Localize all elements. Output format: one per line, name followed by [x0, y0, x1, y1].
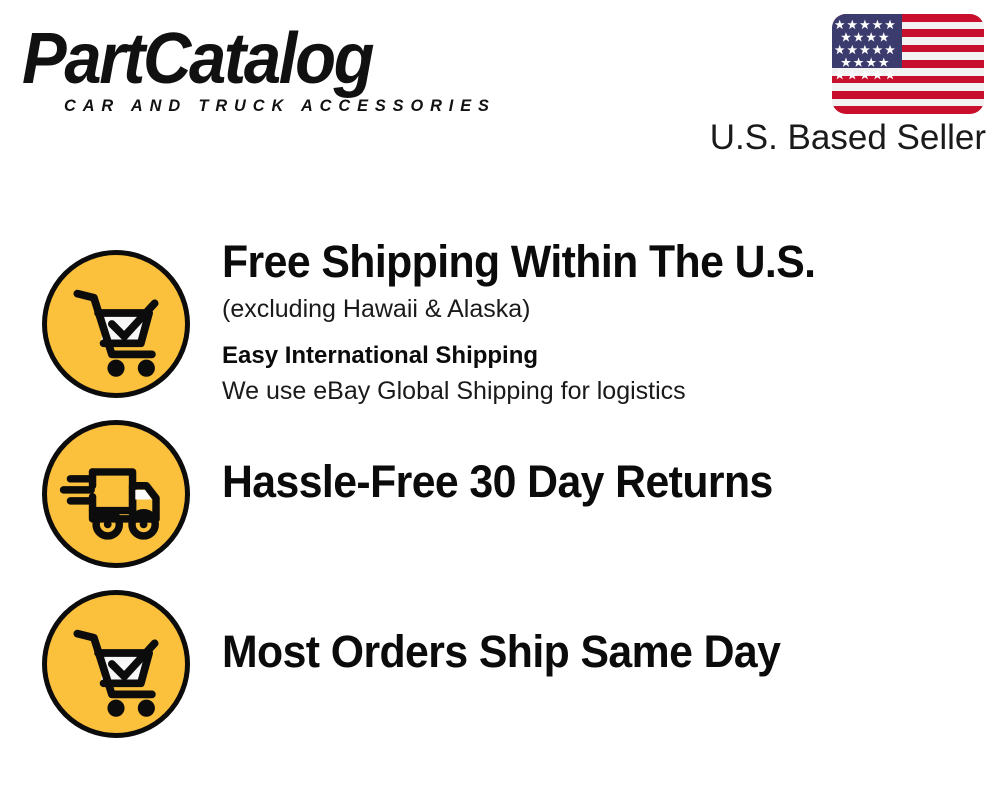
flag-canton: [832, 14, 902, 68]
feature-text-block: Hassle-Free 30 Day Returns: [222, 456, 962, 508]
flag-stars: [832, 14, 902, 84]
promo-banner: PartCatalog CAR AND TRUCK ACCESSORIES: [0, 0, 1000, 800]
feature-item: Most Orders Ship Same Day: [0, 580, 1000, 750]
cart-check-icon: [42, 250, 190, 398]
feature-item: Free Shipping Within The U.S. (excluding…: [0, 240, 1000, 410]
feature-headline: Free Shipping Within The U.S.: [222, 236, 925, 288]
flag-stripe: [832, 99, 984, 107]
us-based-seller-label: U.S. Based Seller: [710, 118, 986, 158]
feature-subheading: Easy International Shipping: [222, 340, 962, 372]
flag-stripe: [832, 91, 984, 99]
flag-stripe: [832, 106, 984, 114]
feature-headline: Hassle-Free 30 Day Returns: [222, 456, 925, 508]
brand-wordmark: PartCatalog: [22, 22, 372, 96]
us-flag-badge: [832, 14, 984, 114]
feature-subtext: We use eBay Global Shipping for logistic…: [222, 374, 962, 408]
brand-tagline: CAR AND TRUCK ACCESSORIES: [64, 96, 496, 116]
us-flag-icon: [832, 14, 984, 114]
feature-note: (excluding Hawaii & Alaska): [222, 292, 962, 326]
cart-check-icon: [42, 590, 190, 738]
feature-text-block: Free Shipping Within The U.S. (excluding…: [222, 236, 962, 408]
delivery-truck-icon: [42, 420, 190, 568]
feature-text-block: Most Orders Ship Same Day: [222, 626, 962, 678]
feature-item: Hassle-Free 30 Day Returns: [0, 410, 1000, 580]
feature-headline: Most Orders Ship Same Day: [222, 626, 925, 678]
flag-stripe: [832, 83, 984, 91]
brand-logo: PartCatalog CAR AND TRUCK ACCESSORIES: [22, 22, 492, 114]
